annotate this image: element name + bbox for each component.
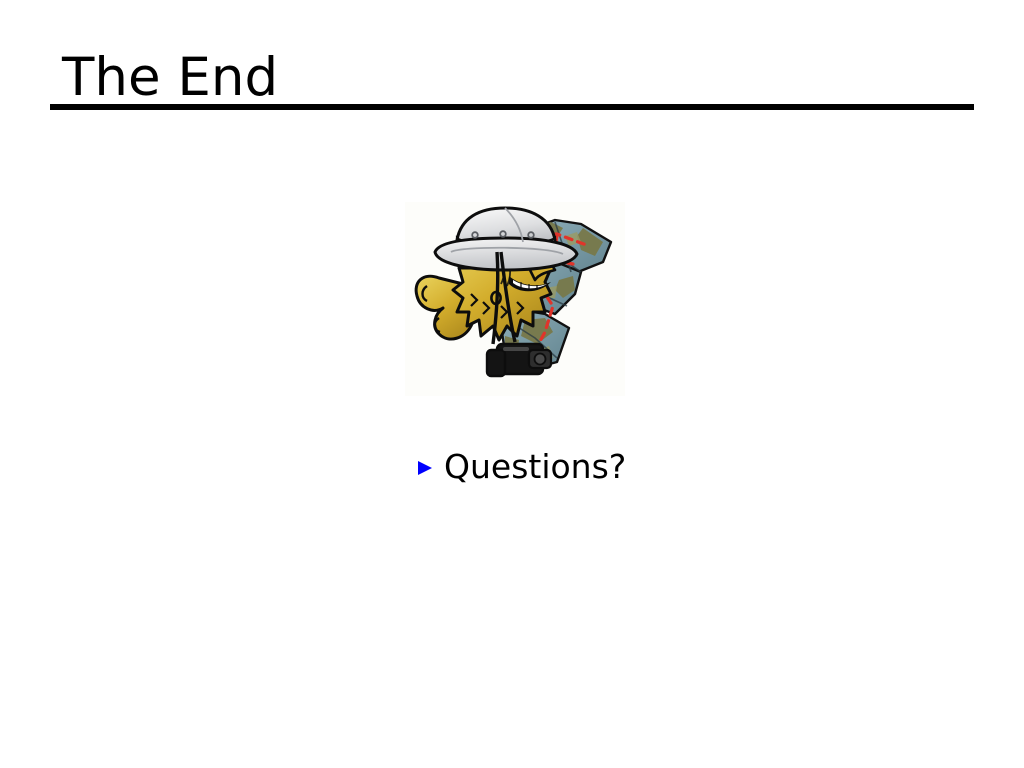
bullet-text: Questions? [444, 448, 626, 486]
triangle-right-bullet-icon [418, 461, 432, 475]
slide-canvas: The End [0, 0, 1024, 768]
list-item: Questions? [418, 448, 626, 486]
page-title: The End [62, 51, 278, 104]
mascot-illustration [405, 202, 625, 396]
title-divider [50, 104, 974, 110]
